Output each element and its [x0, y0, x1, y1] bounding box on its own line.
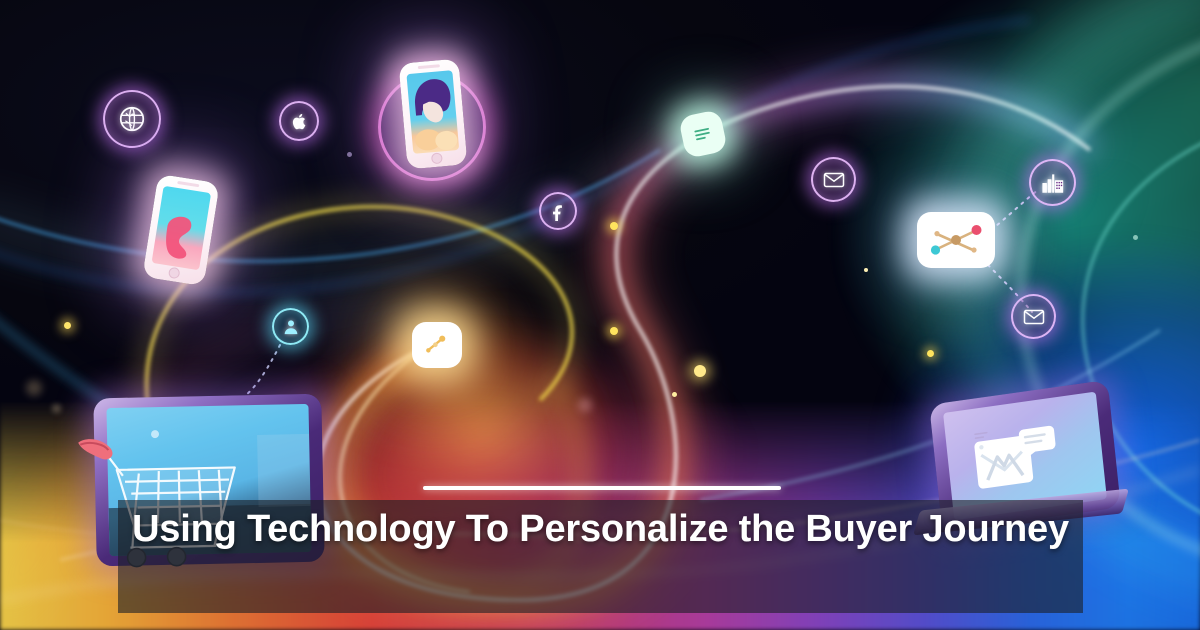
- sparkle-particle: [694, 365, 706, 377]
- network-graph-icon: [917, 212, 995, 268]
- sparkle-particle: [26, 380, 42, 396]
- phone-speaker: [418, 64, 440, 69]
- sparkle-particle: [672, 392, 677, 397]
- facebook-icon: [539, 192, 577, 230]
- envelope-icon: [811, 157, 856, 202]
- sparkle-particle: [864, 268, 868, 272]
- network-node-icon: [412, 322, 462, 368]
- sparkle-particle: [610, 327, 618, 335]
- user-profile-icon: [272, 308, 309, 345]
- city-buildings-icon: [1029, 159, 1076, 206]
- sparkle-particle: [578, 398, 592, 412]
- sparkle-particle: [610, 222, 618, 230]
- envelope-icon: [1011, 294, 1056, 339]
- globe-icon: [103, 90, 161, 148]
- title-overlay: Using Technology To Personalize the Buye…: [118, 500, 1083, 613]
- sparkle-particle: [347, 152, 352, 157]
- sparkle-particle: [927, 350, 934, 357]
- sparkle-particle: [1133, 235, 1138, 240]
- phone-screen-selfie: [406, 70, 459, 154]
- phone-speaker: [177, 181, 199, 187]
- smartphone-device: [398, 59, 467, 170]
- phone-home-button: [431, 152, 443, 164]
- banner-image: Using Technology To Personalize the Buye…: [0, 0, 1200, 630]
- title-divider: [423, 486, 781, 490]
- page-title: Using Technology To Personalize the Buye…: [118, 500, 1083, 552]
- phone-screen: [152, 186, 212, 271]
- apple-icon: [279, 101, 319, 141]
- sparkle-particle: [52, 404, 61, 413]
- sparkle-particle: [64, 322, 71, 329]
- phone-home-button: [168, 267, 181, 280]
